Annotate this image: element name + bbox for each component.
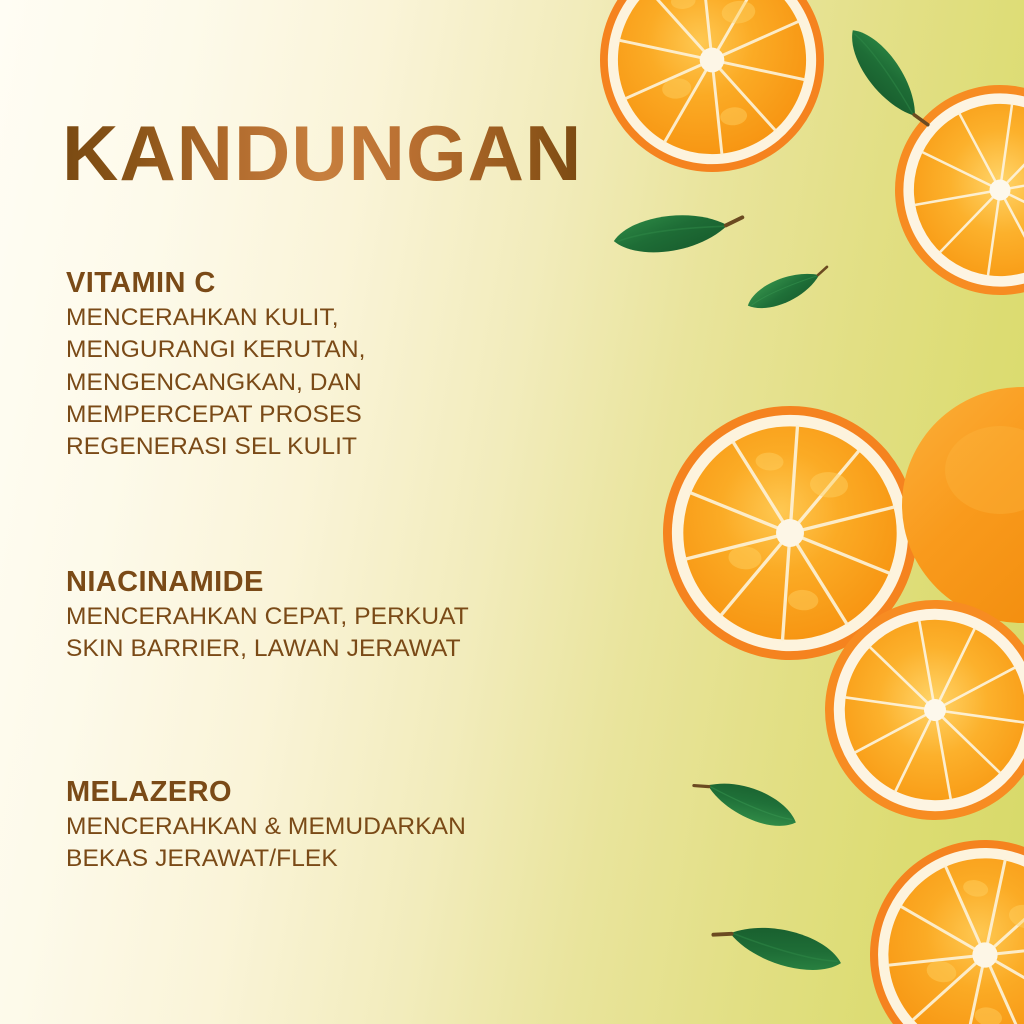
description-line: MENCERAHKAN CEPAT, PERKUAT [66,601,469,633]
ingredients-poster: KANDUNGAN VITAMIN C MENCERAHKAN KULIT, M… [0,0,1024,1024]
ingredient-section-niacinamide: NIACINAMIDE MENCERAHKAN CEPAT, PERKUAT S… [66,567,469,666]
description-line: REGENERASI SEL KULIT [66,431,366,463]
ingredient-section-melazero: MELAZERO MENCERAHKAN & MEMUDARKAN BEKAS … [66,777,466,876]
ingredient-description: MENCERAHKAN CEPAT, PERKUAT SKIN BARRIER,… [66,601,469,665]
ingredient-description: MENCERAHKAN & MEMUDARKAN BEKAS JERAWAT/F… [66,811,466,875]
description-line: MENGENCANGKAN, DAN [66,367,366,399]
content-text-layer: KANDUNGAN VITAMIN C MENCERAHKAN KULIT, M… [0,0,1024,1024]
page-title: KANDUNGAN [62,114,582,192]
ingredient-heading: NIACINAMIDE [66,567,469,598]
description-line: BEKAS JERAWAT/FLEK [66,843,466,875]
description-line: MENGURANGI KERUTAN, [66,334,366,366]
description-line: MENCERAHKAN & MEMUDARKAN [66,811,466,843]
ingredient-section-vitamin-c: VITAMIN C MENCERAHKAN KULIT, MENGURANGI … [66,268,366,463]
description-line: SKIN BARRIER, LAWAN JERAWAT [66,633,469,665]
ingredient-heading: VITAMIN C [66,268,366,299]
description-line: MENCERAHKAN KULIT, [66,302,366,334]
ingredient-description: MENCERAHKAN KULIT, MENGURANGI KERUTAN, M… [66,302,366,462]
description-line: MEMPERCEPAT PROSES [66,399,366,431]
ingredient-heading: MELAZERO [66,777,466,808]
